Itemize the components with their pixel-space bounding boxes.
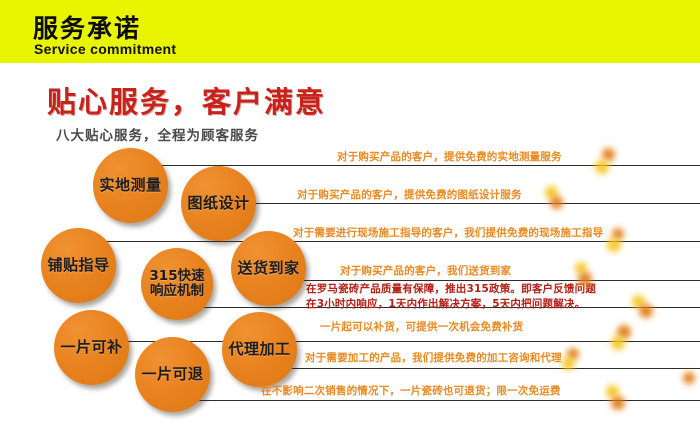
decorative-dot-1b <box>595 160 609 174</box>
service-circle-single-piece-return[interactable]: 一片可退 <box>135 337 210 412</box>
header-banner: 服务承诺 Service commitment <box>0 0 700 63</box>
service-label-home-delivery: 送货到家 <box>237 260 299 277</box>
decorative-dot-2b <box>550 196 563 209</box>
service-desc-agent-processing: 对于需要加工的产品，我们提供免费的加工咨询和代理 <box>305 350 562 365</box>
decorative-dot-5b <box>639 304 653 318</box>
service-circle-paving-guidance[interactable]: 铺贴指导 <box>41 228 116 303</box>
service-circle-agent-processing[interactable]: 代理加工 <box>222 312 297 387</box>
service-label-single-piece-restock: 一片可补 <box>60 339 122 356</box>
service-desc-single-piece-restock: 一片起可以补货，可提供一次机会免费补货 <box>320 319 523 334</box>
service-desc-on-site-measurement: 对于购买产品的客户，提供免费的实地测量服务 <box>337 149 562 164</box>
connector-line-2 <box>218 203 700 204</box>
service-circle-315-rapid-response[interactable]: 315快速 响应机制 <box>141 248 213 320</box>
slide-canvas: 服务承诺 Service commitment 贴心服务，客户满意 八大贴心服务… <box>0 0 700 425</box>
decorative-dot-7b <box>562 357 575 370</box>
service-label-paving-guidance: 铺贴指导 <box>47 257 109 274</box>
connector-line-4 <box>268 280 700 281</box>
connector-line-7 <box>259 368 700 369</box>
decorative-dot-1a <box>602 148 615 161</box>
service-desc-paving-guidance: 对于需要进行现场施工指导的客户，我们提供免费的现场施工指导 <box>293 225 603 240</box>
decorative-dot-8b <box>611 396 625 410</box>
service-label-line-1: 315快速 <box>149 269 204 284</box>
banner-title-cn: 服务承诺 <box>33 9 141 45</box>
service-label-315-rapid-response: 315快速 响应机制 <box>149 269 204 299</box>
service-desc-single-piece-return: 在不影响二次销售的情况下，一片瓷砖也可退货；限一次免运费 <box>261 383 561 398</box>
service-label-on-site-measurement: 实地测量 <box>99 177 161 194</box>
service-label-line-2: 响应机制 <box>149 284 204 299</box>
service-circle-single-piece-restock[interactable]: 一片可补 <box>54 310 129 385</box>
service-desc-315-rapid-response: 在罗马瓷砖产品质量有保障，推出315政策。即客户反馈问题在3小时内响应，1天内作… <box>306 282 606 312</box>
decorative-dot-9a <box>683 372 695 384</box>
service-label-single-piece-return: 一片可退 <box>141 366 203 383</box>
decorative-dot-3b <box>607 238 621 252</box>
service-circle-home-delivery[interactable]: 送货到家 <box>231 231 306 306</box>
service-circle-on-site-measurement[interactable]: 实地测量 <box>93 148 168 223</box>
page-subtitle: 八大贴心服务，全程为顾客服务 <box>56 124 259 144</box>
decorative-dot-6b <box>611 336 625 350</box>
service-desc-home-delivery: 对于购买产品的客户，我们送货到家 <box>340 263 511 278</box>
service-circle-drawing-design[interactable]: 图纸设计 <box>181 166 256 241</box>
service-label-agent-processing: 代理加工 <box>228 341 290 358</box>
service-desc-drawing-design: 对于购买产品的客户，提供免费的图纸设计服务 <box>297 187 522 202</box>
service-label-drawing-design: 图纸设计 <box>187 195 249 212</box>
decorative-dot-4b <box>578 272 592 286</box>
banner-title-en: Service commitment <box>34 41 176 57</box>
page-title: 贴心服务，客户满意 <box>47 79 326 121</box>
